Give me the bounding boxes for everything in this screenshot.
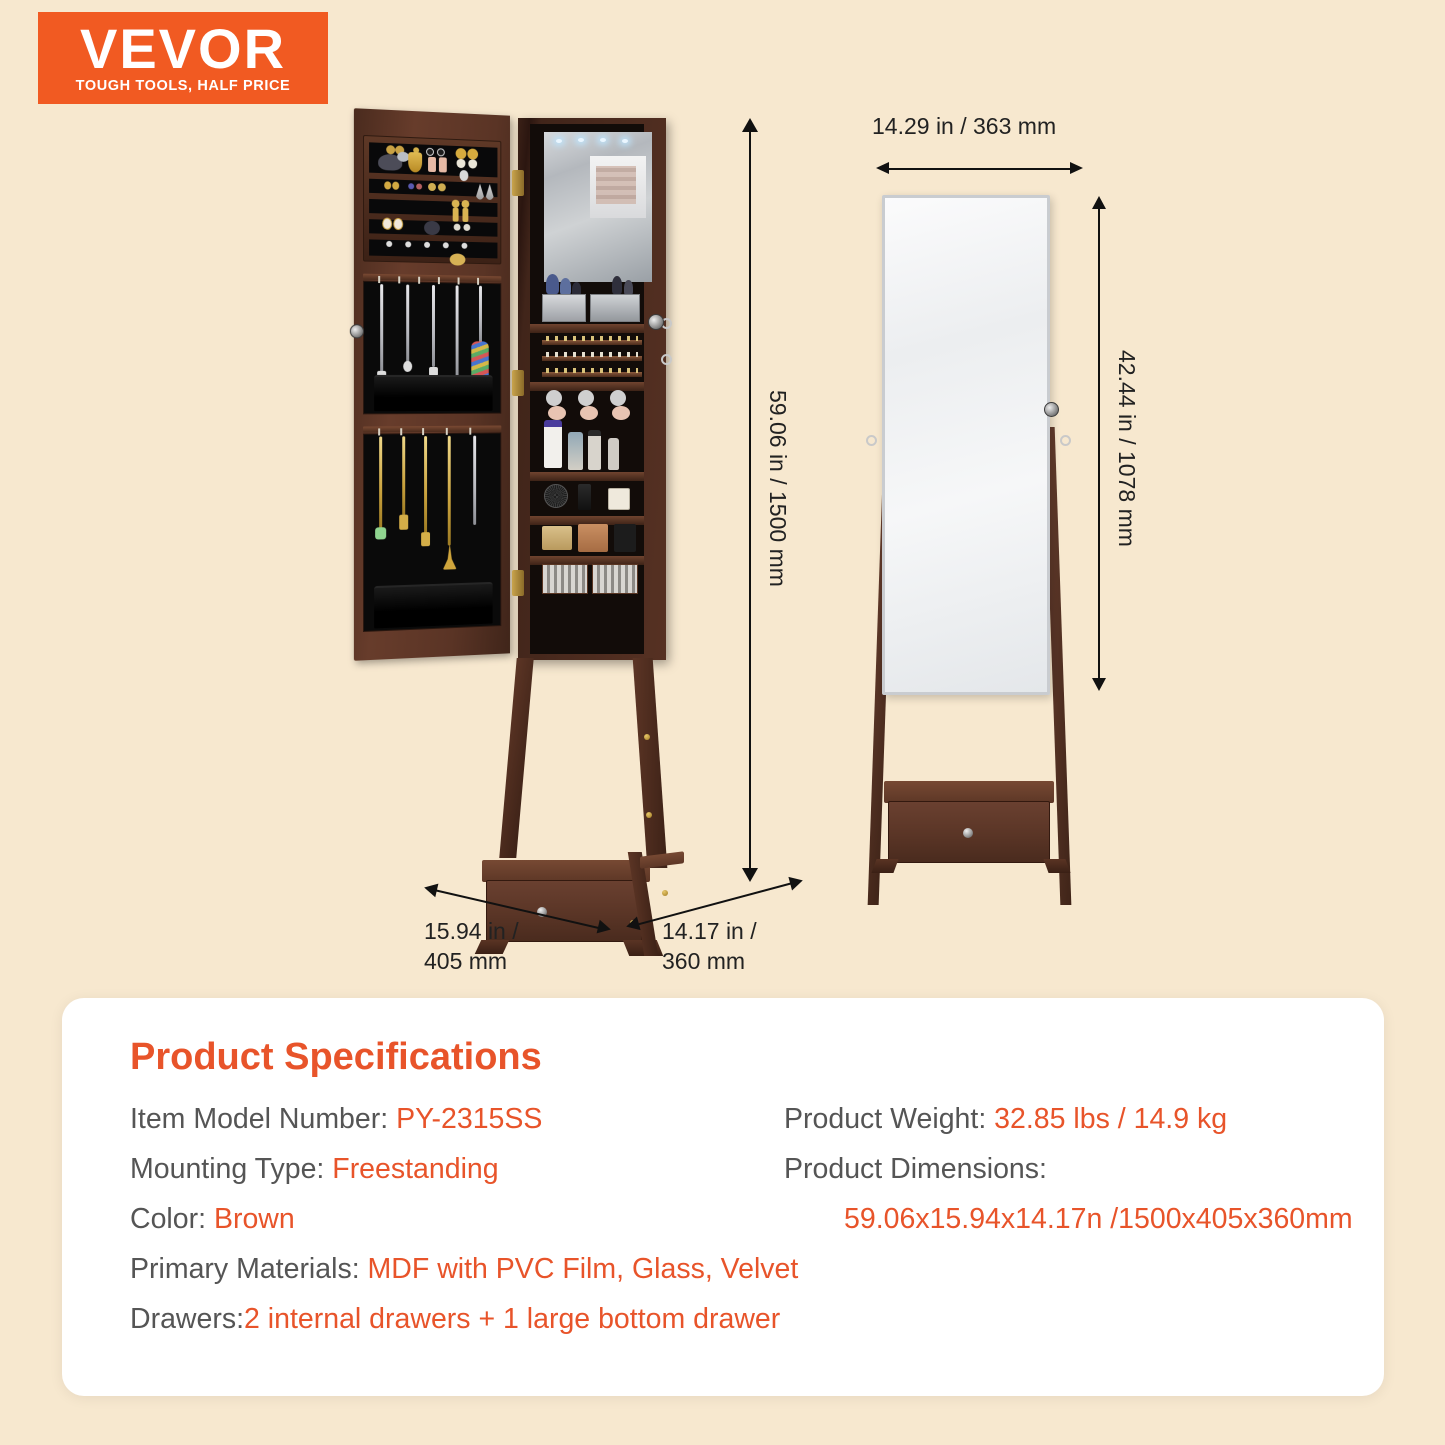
- right-height-dimension-line: [1098, 205, 1100, 685]
- spec-model-number: Item Model Number: PY-2315SS: [130, 1103, 542, 1136]
- stand-leg-left: [499, 658, 533, 858]
- right-foot-right: [1043, 859, 1070, 873]
- arrow-down-icon: [742, 868, 758, 882]
- right-side-hook-icon: [1060, 435, 1071, 446]
- right-foot-left: [871, 859, 898, 873]
- stand-leg-right: [633, 658, 668, 868]
- right-width-label: 14.29 in / 363 mm: [872, 113, 1056, 140]
- right-height-label: 42.44 in / 1078 mm: [1113, 350, 1140, 547]
- spec-color: Color: Brown: [130, 1203, 295, 1236]
- spec-product-dimensions-label: Product Dimensions:: [784, 1153, 1047, 1186]
- lipstick-drawer[interactable]: [542, 564, 588, 594]
- left-height-label: 59.06 in / 1500 mm: [764, 390, 791, 587]
- velvet-panel-lower: [363, 432, 501, 632]
- makeup-brush-icon: [560, 278, 571, 295]
- box-icon: [608, 488, 630, 510]
- palette-icon: [542, 526, 572, 550]
- base-shelf-top: [482, 860, 650, 882]
- hinge-top-icon: [512, 170, 524, 196]
- spec-weight-label: Product Weight:: [784, 1103, 994, 1135]
- bottle-icon: [608, 438, 619, 470]
- product-specifications-card: Product Specifications Item Model Number…: [62, 998, 1384, 1396]
- spec-mounting-type: Mounting Type: Freestanding: [130, 1153, 499, 1186]
- makeup-brush-icon: [612, 276, 622, 294]
- product-view-open-cabinet: [340, 112, 740, 902]
- bottle-icon: [544, 420, 562, 468]
- spec-materials-label: Primary Materials:: [130, 1253, 368, 1285]
- spec-drawers: Drawers:2 internal drawers + 1 large bot…: [130, 1303, 780, 1336]
- brand-name: VEVOR: [80, 22, 286, 75]
- arrow-down-icon: [1092, 678, 1106, 691]
- compact-icon: [544, 484, 568, 508]
- front-lock-icon: [1044, 402, 1059, 417]
- spec-color-value: Brown: [214, 1203, 295, 1235]
- side-hook-icon: [661, 354, 672, 365]
- specifications-title: Product Specifications: [130, 1036, 542, 1079]
- cabinet-body-interior: [518, 118, 666, 660]
- palette-icon: [578, 524, 608, 552]
- spec-primary-materials: Primary Materials: MDF with PVC Film, Gl…: [130, 1253, 798, 1286]
- spray-icon: [588, 430, 601, 470]
- makeup-brush-icon: [624, 280, 633, 295]
- lipstick-icon: [578, 484, 591, 510]
- arrow-right-icon: [788, 874, 804, 891]
- earring-rack: [363, 135, 501, 264]
- velvet-panel-upper: [363, 281, 501, 415]
- spec-drawers-label: Drawers:: [130, 1303, 244, 1335]
- lipstick-drawer[interactable]: [592, 564, 638, 594]
- arrow-right-icon: [1070, 162, 1083, 174]
- right-side-hook-icon: [866, 435, 877, 446]
- brush-holder: [542, 294, 586, 322]
- spec-product-weight: Product Weight: 32.85 lbs / 14.9 kg: [784, 1103, 1227, 1136]
- spec-product-dimensions-value: 59.06x15.94x14.17n /1500x405x360mm: [844, 1203, 1353, 1236]
- spec-color-label: Color:: [130, 1203, 214, 1235]
- spec-model-value: PY-2315SS: [396, 1103, 542, 1135]
- product-view-closed-cabinet: [860, 195, 1090, 915]
- height-dimension-line: [749, 125, 751, 880]
- spec-mounting-value: Freestanding: [332, 1153, 498, 1185]
- necklace-rail-lower: [363, 426, 501, 433]
- front-mirror-panel: [882, 195, 1050, 695]
- palette-icon: [614, 524, 636, 552]
- right-width-dimension-line: [888, 168, 1074, 170]
- arrow-up-icon: [1092, 196, 1106, 209]
- hinge-mid-icon: [512, 370, 524, 396]
- right-base-shelf: [884, 781, 1054, 803]
- left-width-label-line2: 405 mm: [424, 948, 507, 975]
- spec-drawers-value: 2 internal drawers + 1 large bottom draw…: [244, 1303, 780, 1335]
- left-depth-label-line2: 360 mm: [662, 948, 745, 975]
- bottle-icon: [568, 432, 583, 470]
- spec-model-label: Item Model Number:: [130, 1103, 396, 1135]
- right-drawer-knob-icon[interactable]: [963, 828, 973, 838]
- brush-holder: [590, 294, 640, 322]
- spec-mounting-label: Mounting Type:: [130, 1153, 332, 1185]
- interior-mirror: [544, 132, 652, 282]
- left-depth-label-line1: 14.17 in /: [662, 918, 757, 945]
- arrow-up-icon: [742, 118, 758, 132]
- brand-tagline: TOUGH TOOLS, HALF PRICE: [76, 78, 291, 94]
- door-lock-icon: [350, 324, 364, 338]
- left-width-label-line1: 15.94 in /: [424, 918, 519, 945]
- makeup-brush-icon: [546, 274, 559, 294]
- spec-weight-value: 32.85 lbs / 14.9 kg: [994, 1103, 1227, 1135]
- right-bottom-drawer[interactable]: [888, 801, 1050, 863]
- cabinet-lock-icon: [648, 314, 664, 330]
- cabinet-door-open: [354, 108, 510, 661]
- spec-materials-value: MDF with PVC Film, Glass, Velvet: [368, 1253, 799, 1285]
- vevor-logo: VEVOR TOUGH TOOLS, HALF PRICE: [38, 12, 328, 104]
- hinge-bottom-icon: [512, 570, 524, 596]
- arrow-left-icon: [876, 162, 889, 174]
